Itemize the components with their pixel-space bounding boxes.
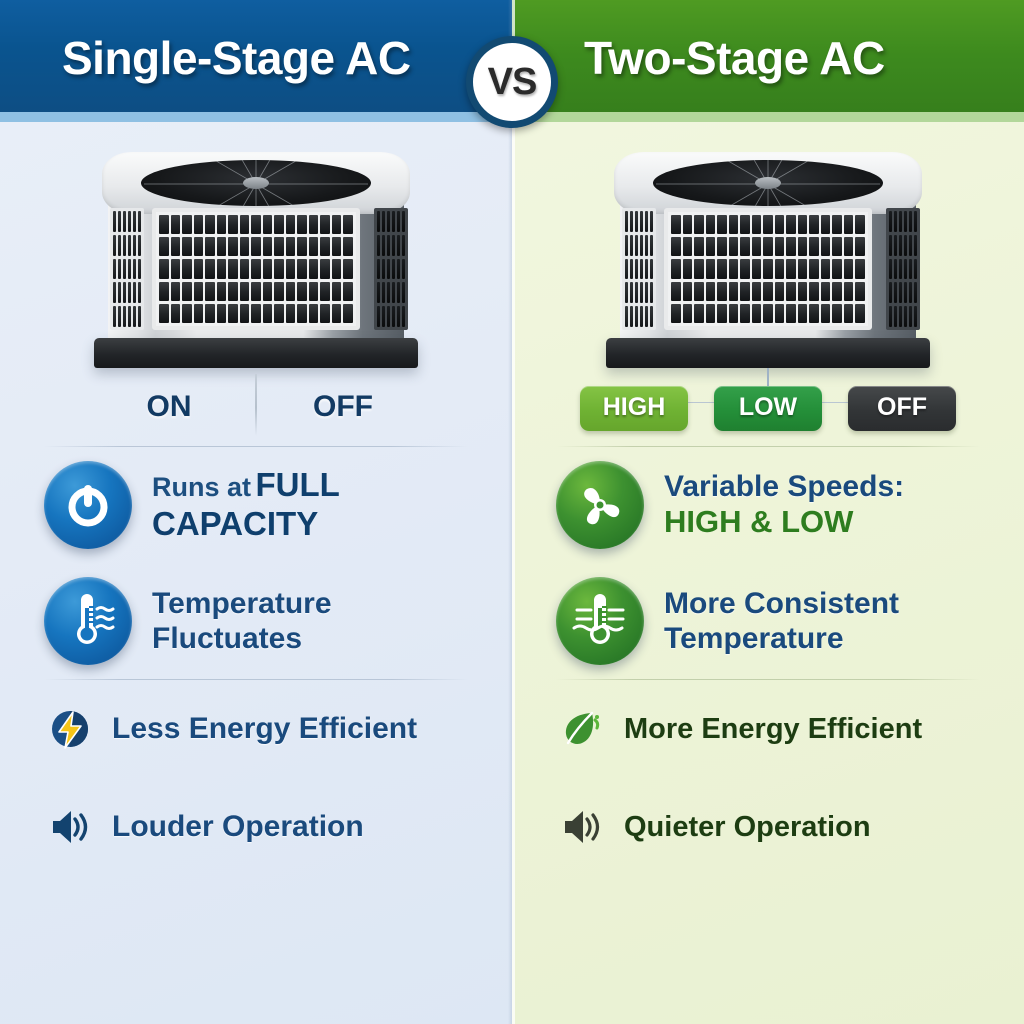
- feature-full-capacity: Runs at FULL CAPACITY: [44, 447, 512, 563]
- feature-line1-regular: Runs at: [152, 472, 251, 502]
- thermometer-lines-icon: [556, 577, 644, 665]
- feature-louder-operation-label: Louder Operation: [112, 810, 364, 844]
- feature-line2: Fluctuates: [152, 621, 332, 656]
- left-feature-list: Runs at FULL CAPACITY: [0, 447, 512, 679]
- ac-front-coil: [152, 208, 360, 330]
- ac-fan-grille: [141, 160, 371, 206]
- right-ac-unit-stage: [512, 136, 1024, 368]
- ac-right-coil: [886, 208, 920, 330]
- ac-front-coil: [664, 208, 872, 330]
- feature-louder-operation: Louder Operation: [44, 778, 512, 876]
- feature-line1: Temperature: [152, 586, 332, 621]
- state-pill-off[interactable]: OFF: [848, 386, 956, 431]
- right-header-bar: Two-Stage AC: [512, 0, 1024, 122]
- ac-right-coil: [374, 208, 408, 330]
- feature-line1: More Consistent: [664, 586, 899, 621]
- feature-variable-speeds: Variable Speeds: HIGH & LOW: [556, 447, 1024, 563]
- feature-quieter-operation: Quieter Operation: [556, 778, 1024, 876]
- feature-less-energy-efficient: Less Energy Efficient: [44, 680, 512, 778]
- ac-fan-grille: [653, 160, 883, 206]
- leaf-icon: [556, 703, 608, 755]
- feature-line2: Temperature: [664, 621, 899, 656]
- left-state-zone: ON OFF: [0, 368, 512, 446]
- ac-fan-hub: [755, 177, 781, 189]
- feature-line1: Variable Speeds:: [664, 469, 904, 504]
- speaker-quiet-icon: [556, 801, 608, 853]
- ac-fan-hub: [243, 177, 269, 189]
- speaker-loud-icon: [44, 801, 96, 853]
- feature-line2: HIGH & LOW: [664, 504, 904, 541]
- right-small-feature-list: More Energy Efficient Quieter Operation: [512, 680, 1024, 876]
- feature-consistent-temperature-text: More Consistent Temperature: [664, 586, 899, 657]
- ac-left-coil: [110, 208, 144, 330]
- ac-base-pad: [606, 338, 930, 368]
- state-label-off: OFF: [283, 390, 403, 424]
- ac-comparison-infographic: Single-Stage AC: [0, 0, 1024, 1024]
- state-label-on: ON: [109, 390, 229, 424]
- ac-top-shroud: [614, 152, 922, 214]
- left-header-bar: Single-Stage AC: [0, 0, 512, 122]
- ac-condenser-unit-icon: [90, 152, 422, 368]
- feature-line2-strong: CAPACITY: [152, 505, 340, 544]
- fan-icon: [556, 461, 644, 549]
- ac-base-pad: [94, 338, 418, 368]
- right-state-zone: HIGH LOW OFF: [512, 368, 1024, 446]
- feature-more-energy-efficient: More Energy Efficient: [556, 680, 1024, 778]
- feature-more-energy-efficient-label: More Energy Efficient: [624, 713, 922, 746]
- feature-quieter-operation-label: Quieter Operation: [624, 811, 871, 844]
- right-header-title: Two-Stage AC: [512, 31, 1024, 85]
- feature-temperature-fluctuates: Temperature Fluctuates: [44, 563, 512, 679]
- feature-less-energy-efficient-label: Less Energy Efficient: [112, 712, 417, 746]
- left-header-title: Single-Stage AC: [0, 31, 512, 85]
- feature-full-capacity-text: Runs at FULL CAPACITY: [152, 466, 340, 544]
- feature-variable-speeds-text: Variable Speeds: HIGH & LOW: [664, 469, 904, 541]
- speed-pill-row: HIGH LOW OFF: [512, 386, 1024, 431]
- feature-consistent-temperature: More Consistent Temperature: [556, 563, 1024, 679]
- vs-badge-label: VS: [488, 61, 537, 104]
- state-pill-high[interactable]: HIGH: [580, 386, 688, 431]
- feature-temperature-fluctuates-text: Temperature Fluctuates: [152, 586, 332, 657]
- lightning-bolt-icon: [44, 703, 96, 755]
- feature-line1-strong: FULL: [255, 466, 339, 503]
- two-stage-column: Two-Stage AC: [512, 0, 1024, 1024]
- ac-top-shroud: [102, 152, 410, 214]
- state-pill-low[interactable]: LOW: [714, 386, 822, 431]
- thermometer-waves-icon: [44, 577, 132, 665]
- left-small-feature-list: Less Energy Efficient Louder Operation: [0, 680, 512, 876]
- vs-badge: VS: [466, 36, 558, 128]
- left-ac-unit-stage: [0, 136, 512, 368]
- right-feature-list: Variable Speeds: HIGH & LOW: [512, 447, 1024, 679]
- ac-left-coil: [622, 208, 656, 330]
- power-icon: [44, 461, 132, 549]
- single-stage-column: Single-Stage AC: [0, 0, 512, 1024]
- ac-condenser-unit-icon: [602, 152, 934, 368]
